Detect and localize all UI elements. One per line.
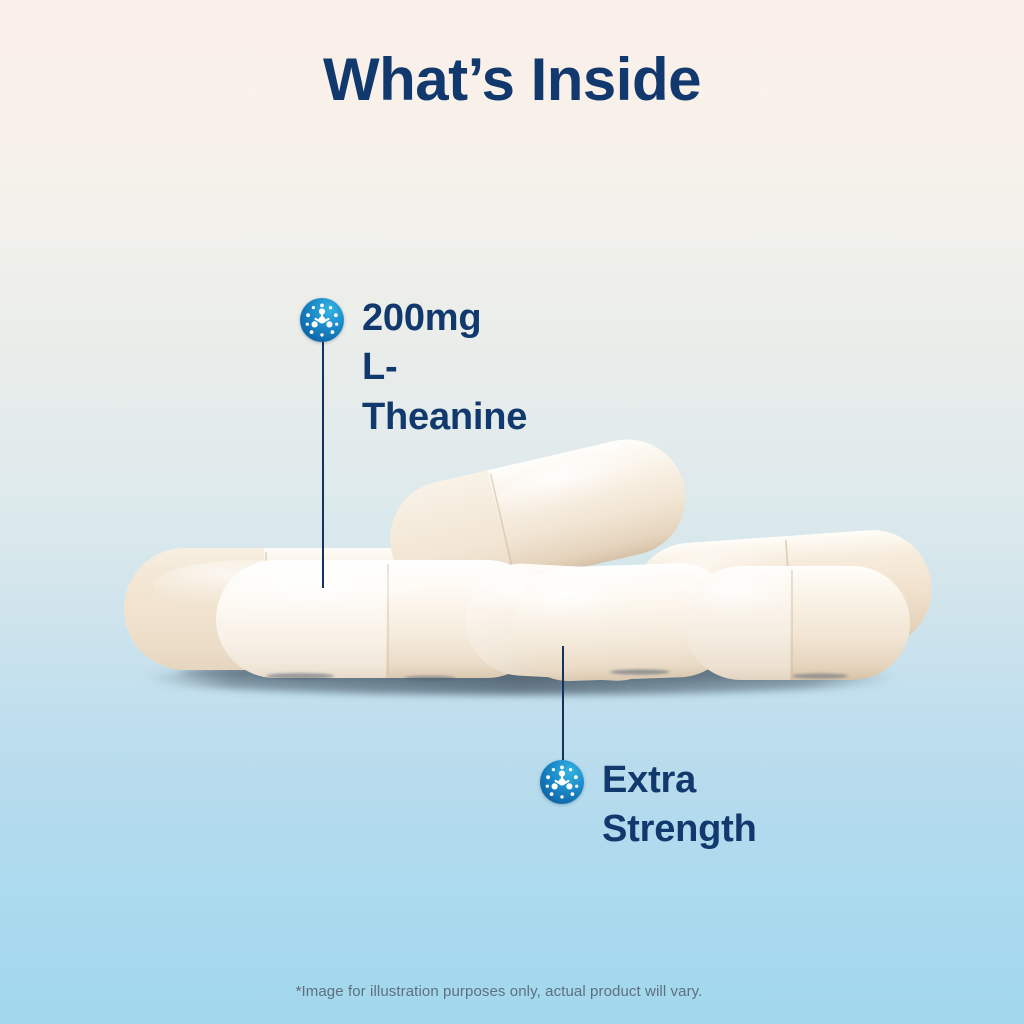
capsule-right-front [684, 566, 910, 680]
leader-line-theanine [322, 340, 324, 588]
capsule-front-left [216, 560, 546, 678]
product-capsules-image [0, 0, 1024, 1024]
callout-theanine-label: 200mg L-Theanine [362, 294, 527, 442]
page-title: What’s Inside [0, 48, 1024, 111]
molecule-icon [300, 298, 344, 342]
disclaimer-text: *Image for illustration purposes only, a… [0, 983, 1024, 1000]
molecule-icon [540, 760, 584, 804]
ground-speckles [266, 669, 848, 680]
capsule-front-center [510, 561, 738, 683]
infographic-canvas: What’s Inside [0, 0, 1024, 1024]
capsule-top [379, 428, 697, 609]
leader-line-strength [562, 646, 564, 762]
capsule-shadow [142, 661, 898, 695]
capsule-right-back [628, 526, 936, 665]
capsule-shadow-core [180, 662, 860, 682]
capsule-middle [463, 561, 677, 684]
capsule-back-left [124, 548, 454, 670]
callout-strength-label: Extra Strength [602, 756, 757, 855]
